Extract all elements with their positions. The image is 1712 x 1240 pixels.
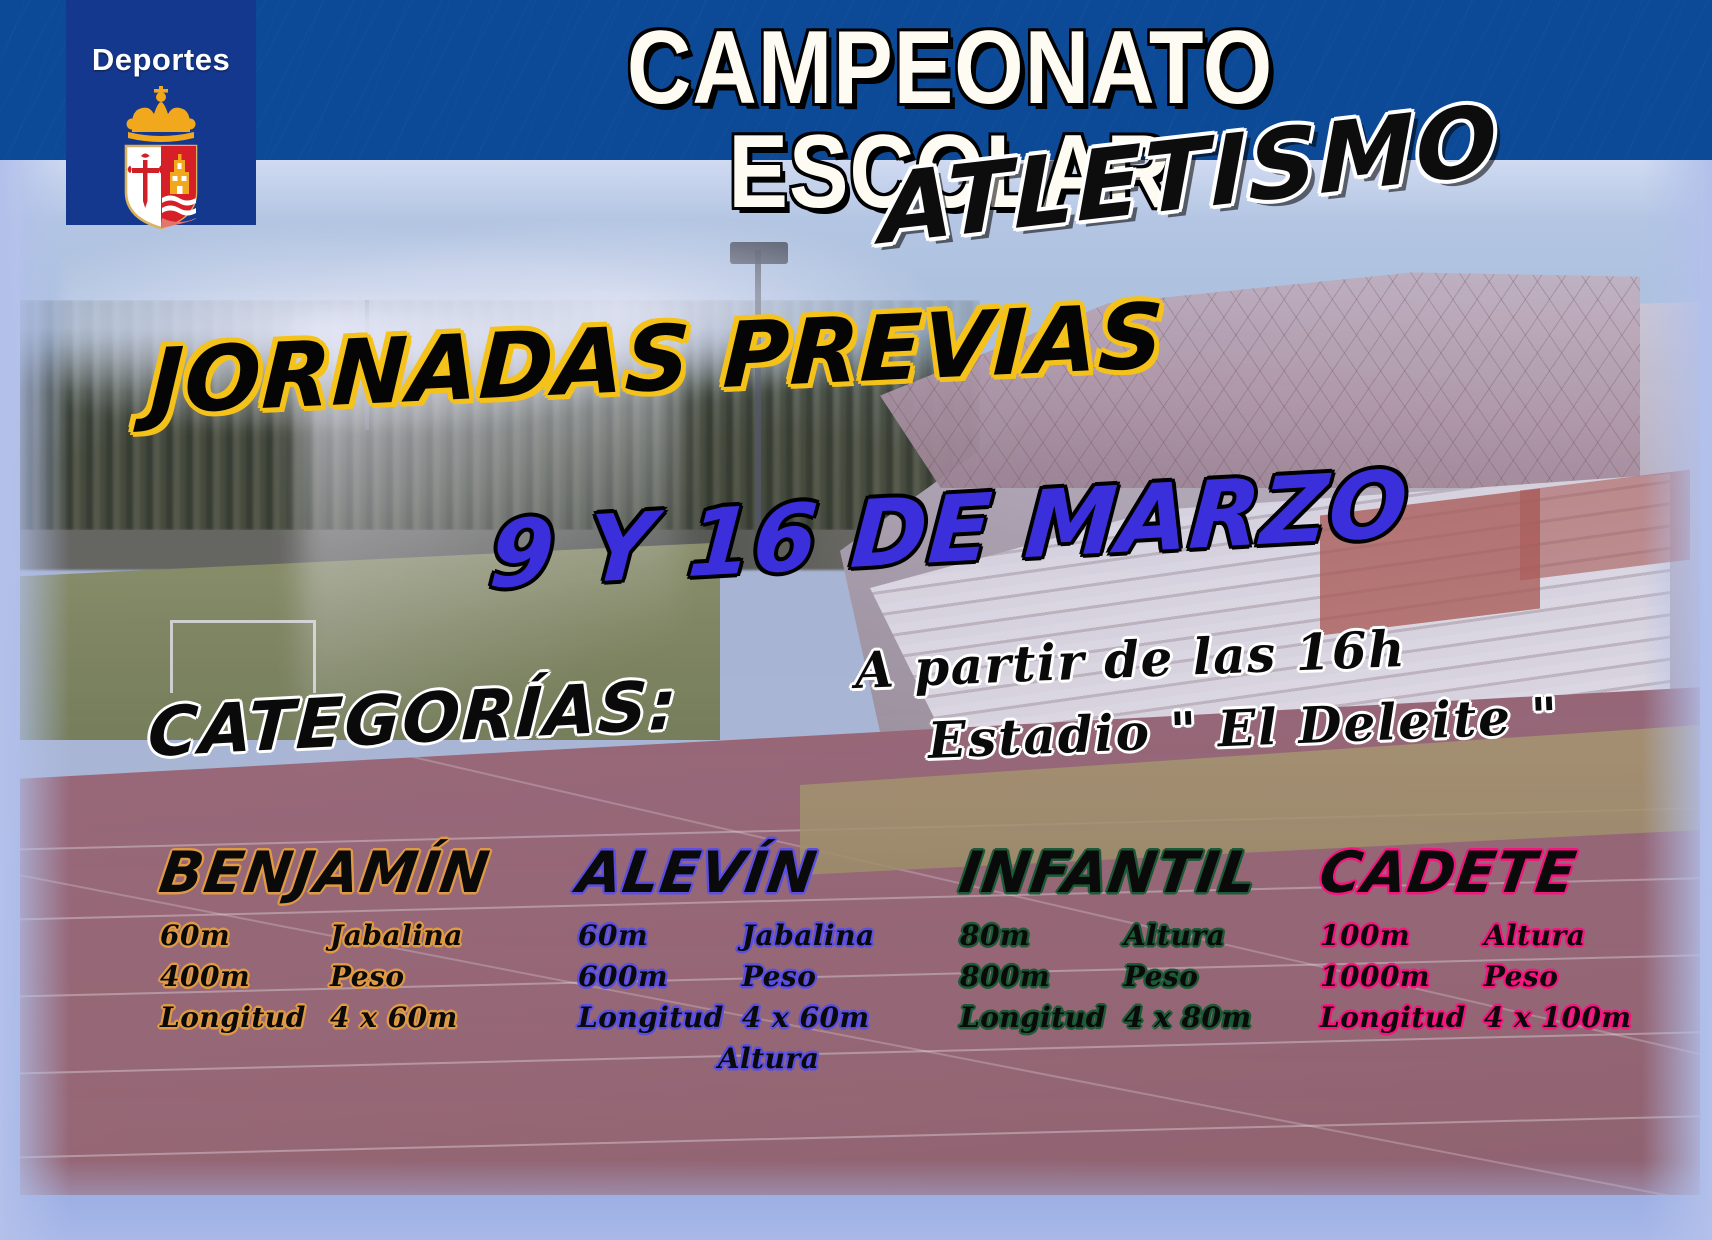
category-cadete: CADETE 100m 1000m Longitud Altura Peso 4…	[1320, 845, 1632, 1032]
category-alevin: ALEVÍN 60m 600m Longitud Jabalina Peso 4…	[578, 845, 875, 1073]
coat-of-arms-crest	[102, 80, 220, 230]
event-item: 600m	[578, 963, 724, 991]
event-item: Jabalina	[742, 922, 875, 950]
category-infantil: INFANTIL 80m 800m Longitud Altura Peso 4…	[960, 845, 1257, 1032]
event-item: Longitud	[1320, 1004, 1466, 1032]
events-column-track: 80m 800m Longitud	[960, 922, 1106, 1032]
event-item: 60m	[578, 922, 724, 950]
event-item: Longitud	[160, 1004, 312, 1032]
event-item: 400m	[160, 963, 312, 991]
deportes-logo: Deportes	[66, 0, 256, 225]
events-column-field: Altura Peso 4 x 100m	[1484, 922, 1632, 1032]
events-column-field: Altura Peso 4 x 80m	[1124, 922, 1252, 1032]
category-name: ALEVÍN	[574, 845, 879, 902]
event-item: 800m	[960, 963, 1106, 991]
category-name: INFANTIL	[956, 845, 1261, 902]
event-item: Peso	[1484, 963, 1632, 991]
category-name: CADETE	[1316, 845, 1636, 902]
event-item: Altura	[1484, 922, 1632, 950]
category-events: 80m 800m Longitud Altura Peso 4 x 80m	[960, 922, 1257, 1032]
event-item: 4 x 80m	[1124, 1004, 1252, 1032]
event-item: Longitud	[578, 1004, 724, 1032]
event-item: 60m	[160, 922, 312, 950]
category-events: 60m 600m Longitud Jabalina Peso 4 x 60m …	[578, 922, 875, 1073]
event-item: 1000m	[1320, 963, 1466, 991]
events-column-track: 60m 400m Longitud	[160, 922, 312, 1032]
categories-list: BENJAMÍN 60m 400m Longitud Jabalina Peso…	[0, 845, 1712, 1205]
category-name: BENJAMÍN	[156, 845, 493, 902]
poster-root: Deportes	[0, 0, 1712, 1240]
event-item: 4 x 60m	[742, 1004, 875, 1032]
event-item: Longitud	[960, 1004, 1106, 1032]
event-item: Peso	[742, 963, 875, 991]
event-item: Peso	[330, 963, 463, 991]
events-column-track: 60m 600m Longitud	[578, 922, 724, 1073]
event-item: Jabalina	[330, 922, 463, 950]
category-benjamin: BENJAMÍN 60m 400m Longitud Jabalina Peso…	[160, 845, 489, 1032]
event-item: Altura	[1124, 922, 1252, 950]
events-column-field: Jabalina Peso 4 x 60m Altura	[742, 922, 875, 1073]
event-item: 4 x 60m	[330, 1004, 463, 1032]
event-item: Altura	[718, 1045, 820, 1073]
events-column-track: 100m 1000m Longitud	[1320, 922, 1466, 1032]
event-item: Peso	[1124, 963, 1252, 991]
event-item: 80m	[960, 922, 1106, 950]
events-column-field: Jabalina Peso 4 x 60m	[330, 922, 463, 1032]
category-events: 100m 1000m Longitud Altura Peso 4 x 100m	[1320, 922, 1632, 1032]
event-item: 100m	[1320, 922, 1466, 950]
event-item: 4 x 100m	[1484, 1004, 1632, 1032]
logo-label: Deportes	[92, 42, 230, 78]
category-events: 60m 400m Longitud Jabalina Peso 4 x 60m	[160, 922, 489, 1032]
